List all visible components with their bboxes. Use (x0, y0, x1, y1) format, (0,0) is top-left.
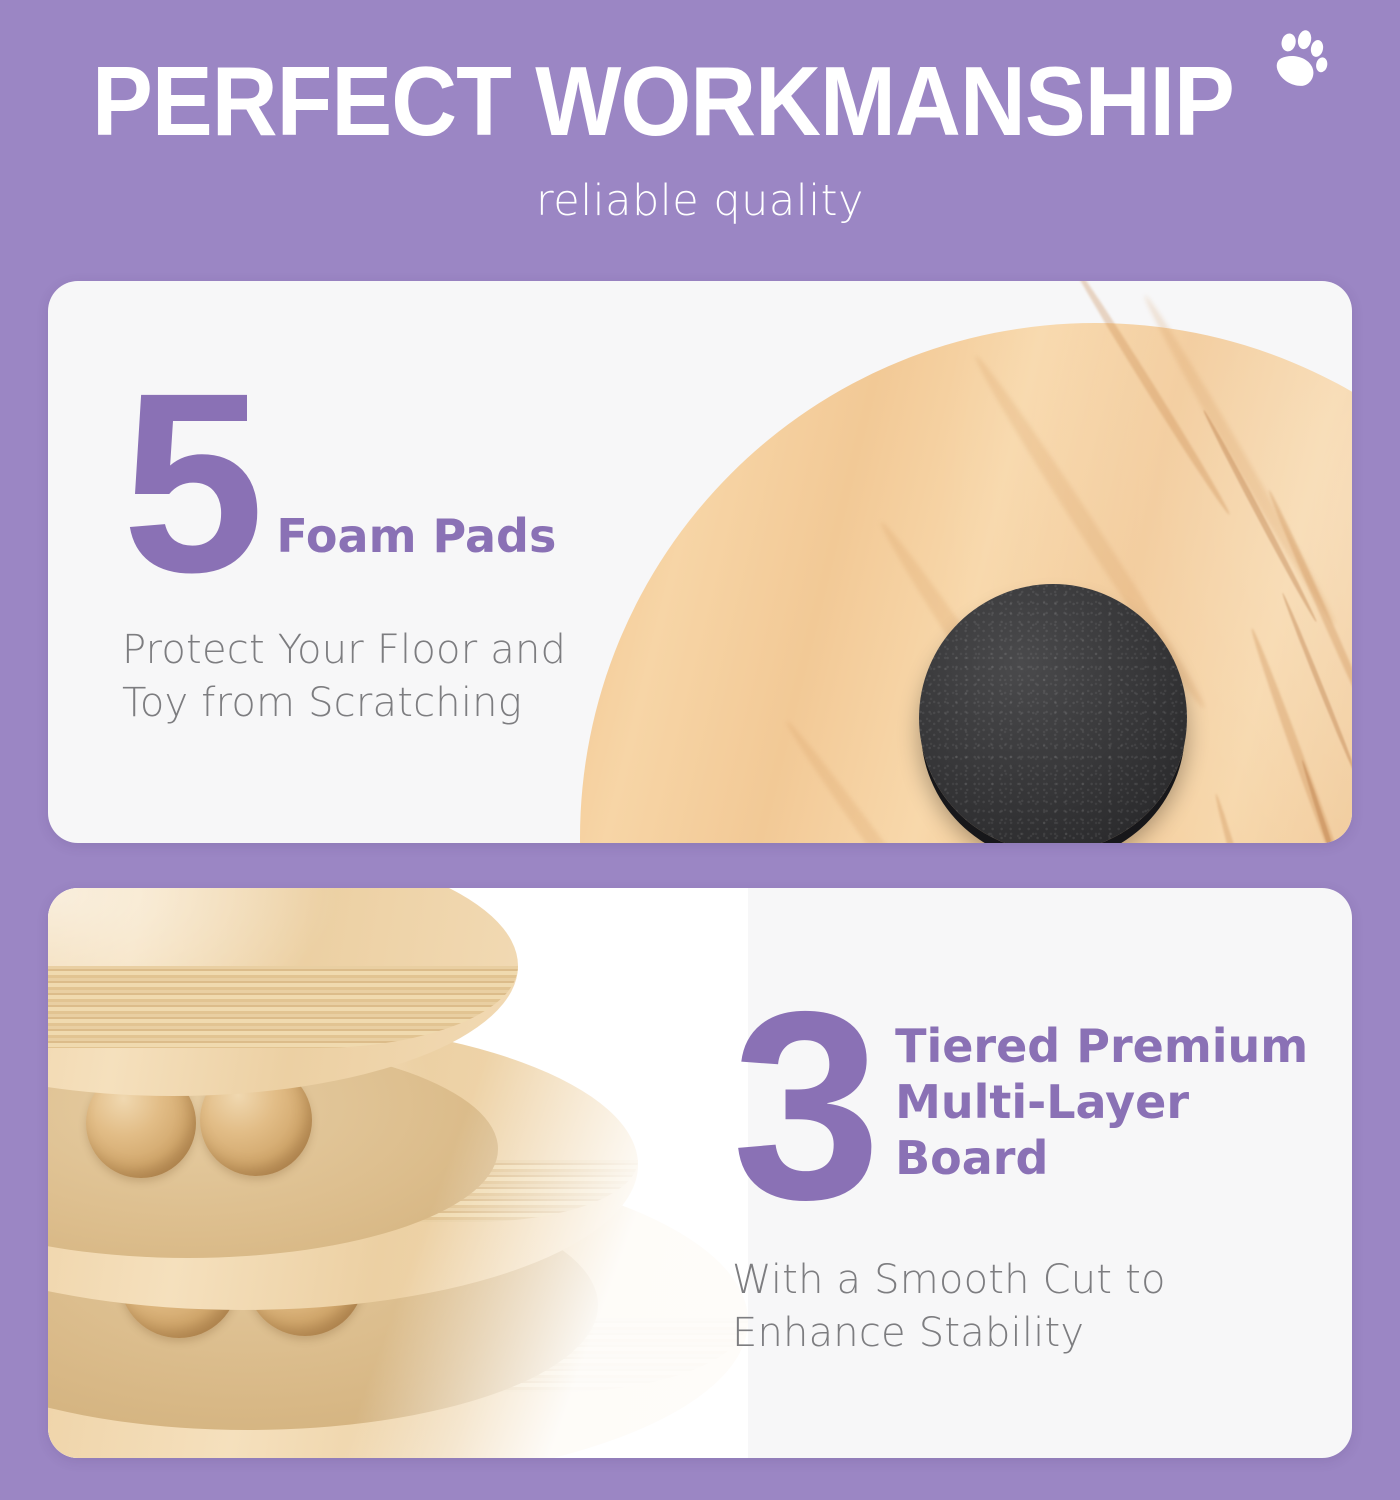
feature-1-number: 5 (122, 381, 262, 586)
feature-2-number: 3 (732, 998, 879, 1212)
feature-2-description: With a Smooth Cut to Enhance Stability (732, 1254, 1332, 1360)
feature-2-heading-row: 3 Tiered Premium Multi-Layer Board (732, 998, 1332, 1212)
feature-card-foam-pads: 5 Foam Pads Protect Your Floor and Toy f… (48, 281, 1352, 843)
wooden-disc (580, 323, 1352, 843)
feature-2-text-block: 3 Tiered Premium Multi-Layer Board With … (732, 998, 1332, 1360)
feature-2-label: Tiered Premium Multi-Layer Board (879, 1018, 1332, 1212)
header-banner: PERFECT WORKMANSHIP reliable quality (0, 0, 1400, 280)
feature-1-description: Protect Your Floor and Toy from Scratchi… (122, 624, 642, 730)
paw-print-icon (1268, 28, 1330, 94)
stacked-wooden-tiers-with-balls-image (48, 888, 748, 1458)
black-foam-pad (919, 584, 1187, 843)
feature-1-text-block: 5 Foam Pads Protect Your Floor and Toy f… (122, 381, 642, 729)
feature-1-heading-row: 5 Foam Pads (122, 381, 642, 586)
page-subtitle: reliable quality (0, 176, 1400, 226)
infographic-root: PERFECT WORKMANSHIP reliable quality (0, 0, 1400, 1500)
page-title: PERFECT WORKMANSHIP (92, 52, 1255, 150)
feature-1-label: Foam Pads (262, 508, 556, 586)
feature-card-tiered-board: 3 Tiered Premium Multi-Layer Board With … (48, 888, 1352, 1458)
wooden-disc-with-black-foam-pad-image (562, 281, 1352, 843)
